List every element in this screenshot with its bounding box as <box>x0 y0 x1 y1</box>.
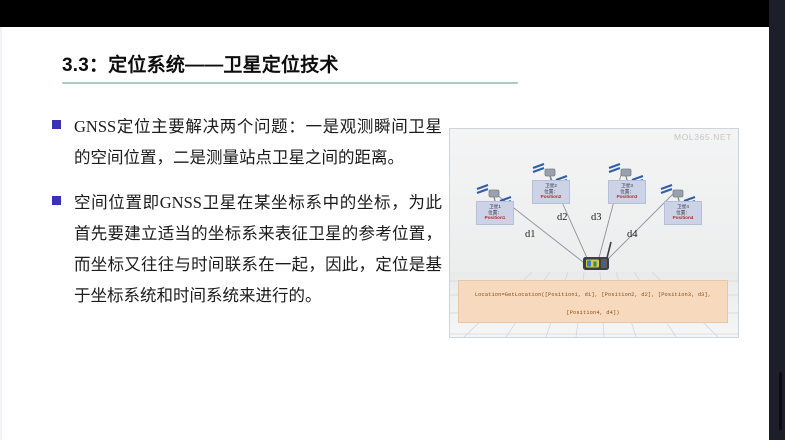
satellite-position-1: Position1 <box>477 215 513 221</box>
formula-text: Location=GetLocation([Position1, d1], [P… <box>475 292 711 316</box>
satellite-position-2: Position2 <box>533 194 569 200</box>
slide-canvas: 3.3：定位系统——卫星定位技术 GNSS定位主要解决两个问题：一是观测瞬间卫星… <box>0 27 769 440</box>
bullet-text-1: GNSS定位主要解决两个问题：一是观测瞬间卫星的空间位置，二是测量站点卫星之间的… <box>74 111 442 173</box>
distance-label-d4: d4 <box>627 229 638 240</box>
page-title: 3.3：定位系统——卫星定位技术 <box>62 50 339 77</box>
distance-label-d3: d3 <box>591 212 602 223</box>
player-right-rail <box>769 0 785 440</box>
signal-rays-icon <box>492 171 676 269</box>
distance-label-d1: d1 <box>525 229 536 240</box>
video-letterbox-top <box>0 0 770 27</box>
bullet-list: GNSS定位主要解决两个问题：一是观测瞬间卫星的空间位置，二是测量站点卫星之间的… <box>52 111 442 325</box>
square-bullet-icon <box>52 196 61 205</box>
satellite-label-3: 卫星3 位置： Position3 <box>608 180 646 204</box>
satellite-position-4: Position4 <box>665 215 701 221</box>
title-underline <box>62 82 518 84</box>
scrollbar-thumb[interactable] <box>779 372 782 430</box>
satellite-label-1: 卫星1 位置： Position1 <box>476 201 514 225</box>
square-bullet-icon <box>52 120 61 129</box>
list-item: 空间位置即GNSS卫星在某坐标系中的坐标，为此首先要建立适当的坐标系来表征卫星的… <box>52 187 442 311</box>
gnss-diagram-image: MOL365.NET <box>449 128 739 338</box>
bullet-text-2: 空间位置即GNSS卫星在某坐标系中的坐标，为此首先要建立适当的坐标系来表征卫星的… <box>74 187 442 311</box>
formula-bar: Location=GetLocation([Position1, d1], [P… <box>458 280 728 323</box>
distance-label-d2: d2 <box>557 212 568 223</box>
gps-receiver-icon <box>583 242 611 270</box>
satellite-position-3: Position3 <box>609 194 645 200</box>
satellite-label-2: 卫星2 位置： Position2 <box>532 180 570 204</box>
satellite-label-4: 卫星4 位置： Position4 <box>664 201 702 225</box>
list-item: GNSS定位主要解决两个问题：一是观测瞬间卫星的空间位置，二是测量站点卫星之间的… <box>52 111 442 173</box>
slide-left-edge <box>0 27 2 440</box>
